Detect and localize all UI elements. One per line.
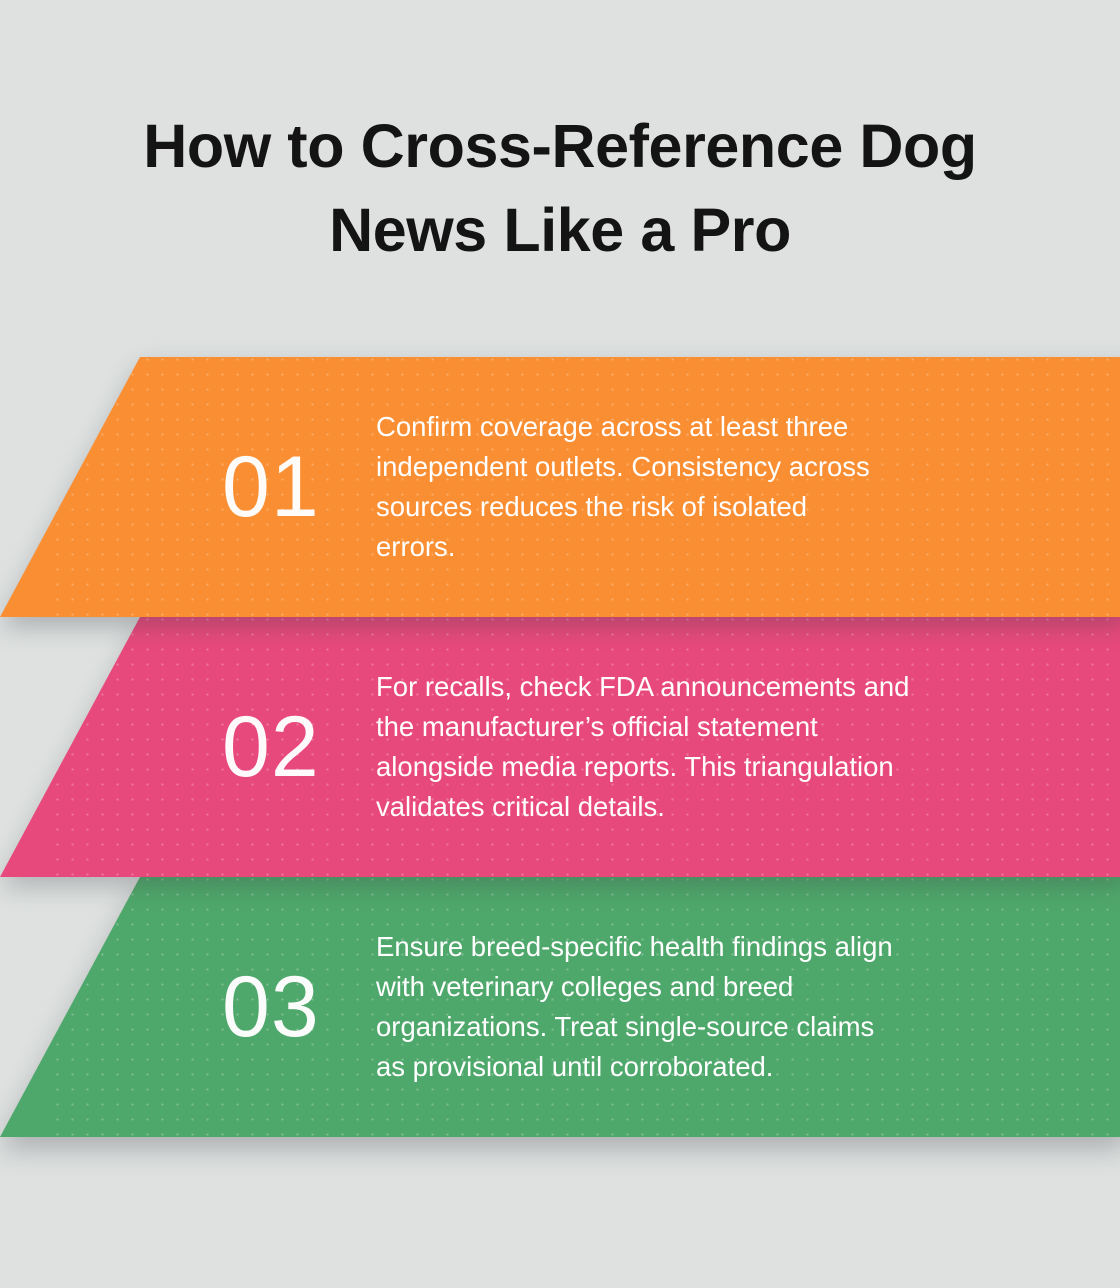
step-item-01: 01 Confirm coverage across at least thre… bbox=[0, 357, 1120, 617]
step-banner-shape-01 bbox=[0, 357, 1120, 617]
step-banner-shape-02 bbox=[0, 617, 1120, 877]
page-title: How to Cross-Reference Dog News Like a P… bbox=[0, 104, 1120, 272]
page-title-line-1: How to Cross-Reference Dog bbox=[0, 104, 1120, 188]
step-item-03: 03 Ensure breed-specific health findings… bbox=[0, 877, 1120, 1137]
step-banner-shape-03 bbox=[0, 877, 1120, 1137]
step-item-02: 02 For recalls, check FDA announcements … bbox=[0, 617, 1120, 877]
steps-list: 01 Confirm coverage across at least thre… bbox=[0, 357, 1120, 1137]
page-title-line-2: News Like a Pro bbox=[0, 188, 1120, 272]
